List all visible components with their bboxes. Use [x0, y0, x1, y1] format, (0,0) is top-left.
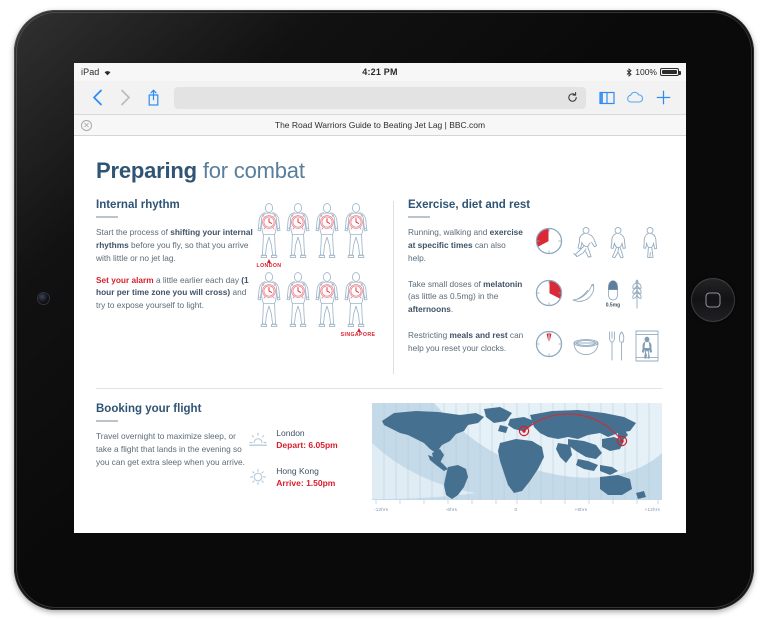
- text-fragment: afternoons: [408, 304, 451, 314]
- singapore-label: SINGAPORE: [335, 332, 381, 338]
- text-fragment: Take small doses of: [408, 279, 483, 289]
- cloud-icon: [626, 91, 644, 104]
- page-title-bold: Preparing: [96, 158, 197, 183]
- tab-bar: ✕ The Road Warriors Guide to Beating Jet…: [74, 115, 686, 136]
- exercise-row: Running, walking and exercise at specifi…: [408, 226, 662, 265]
- browser-toolbar: [74, 81, 686, 115]
- booking-flight-section: Booking your flight Travel overnight to …: [96, 403, 662, 512]
- tz-label: -6hrs: [446, 507, 457, 512]
- wheat-icon: [628, 278, 646, 310]
- flight-depart-label: Depart:: [276, 440, 306, 450]
- text-fragment: Running, walking and: [408, 227, 490, 237]
- text-fragment: Set your alarm: [96, 275, 154, 285]
- content-columns: Internal rhythm Start the process of shi…: [96, 199, 662, 376]
- wheat-icon: [628, 278, 646, 310]
- bluetooth-icon: [626, 68, 632, 77]
- standing-figure-icon: [638, 226, 662, 260]
- flight-time-label: Depart: 6.05pm: [276, 439, 337, 451]
- world-timezone-map: [372, 403, 662, 505]
- text-fragment: melatonin: [483, 279, 522, 289]
- pill-icon: 0.5mg: [605, 279, 621, 309]
- reload-button[interactable]: [567, 92, 578, 103]
- chevron-left-icon: [92, 89, 103, 106]
- status-bar-right: 100%: [626, 67, 679, 77]
- exercise-row-text: Running, walking and exercise at specifi…: [408, 226, 526, 265]
- bowl-icon: [572, 335, 600, 357]
- text-fragment: Start the process of: [96, 227, 170, 237]
- flight-time-label: Arrive: 1.50pm: [276, 477, 335, 489]
- figure-row-singapore: [256, 272, 376, 328]
- internal-rhythm-paragraph-2: Set your alarm a little earlier each day…: [96, 274, 256, 313]
- bed-icon: [634, 329, 660, 363]
- human-figure-icon: [285, 272, 311, 328]
- flight-depart-time: 6.05pm: [308, 440, 337, 450]
- human-figure-icon: [343, 203, 369, 259]
- alarm-clock-icon: [292, 284, 305, 299]
- text-fragment: .: [451, 304, 453, 314]
- section-rule: [96, 216, 118, 218]
- booking-heading: Booking your flight: [96, 403, 248, 415]
- internal-rhythm-heading: Internal rhythm: [96, 199, 256, 211]
- alarm-clock-icon: [263, 284, 276, 299]
- banana-icon: [572, 283, 598, 305]
- status-bar-time: 4:21 PM: [74, 67, 686, 77]
- clock-dial: [534, 278, 564, 308]
- page-title-light: for combat: [197, 158, 305, 183]
- tz-label: +12hrs: [645, 507, 660, 512]
- cutlery-icon: [607, 330, 627, 362]
- reload-icon: [567, 92, 578, 103]
- exercise-row: Restricting meals and rest can help you …: [408, 329, 662, 363]
- exercise-row: Take small doses of melatonin (as little…: [408, 278, 662, 317]
- human-figure-icon: [343, 272, 369, 328]
- clock-dial: [534, 226, 564, 256]
- ipad-screen: iPad 4:21 PM 100%: [74, 63, 686, 533]
- clock-dial-icon: [534, 278, 564, 308]
- figure-row-london: [256, 203, 376, 259]
- pill-icon: 0.5mg: [605, 279, 621, 309]
- exercise-diet-rest-section: Exercise, diet and rest Running, walking…: [408, 199, 662, 376]
- ipad-device-frame: iPad 4:21 PM 100%: [14, 10, 754, 610]
- flight-city-label: Hong Kong: [276, 465, 335, 477]
- alarm-clock-icon: [350, 284, 363, 299]
- forward-button[interactable]: [111, 84, 139, 112]
- banana-icon: [572, 283, 598, 305]
- icloud-tabs-button[interactable]: [621, 84, 649, 112]
- clock-dial-icon: [534, 329, 564, 359]
- human-figure-icon: [256, 203, 282, 259]
- human-figure-icon: [314, 203, 340, 259]
- exercise-row-text: Take small doses of melatonin (as little…: [408, 278, 526, 317]
- flight-arrive-label: Arrive:: [276, 478, 303, 488]
- timezone-axis-labels: -12hrs -6hrs 0 +6hrs +12hrs: [372, 507, 662, 512]
- clock-dial-icon: [534, 226, 564, 256]
- sunset-icon: [248, 430, 268, 448]
- tab-title[interactable]: The Road Warriors Guide to Beating Jet L…: [74, 120, 686, 130]
- alarm-clock-icon: [350, 215, 363, 230]
- walking-figure-icon: [605, 226, 631, 260]
- share-button[interactable]: [139, 84, 167, 112]
- alarm-figures-illustration: LONDON: [256, 199, 376, 376]
- web-page-content: Preparing for combat Internal rhythm Sta…: [74, 136, 686, 533]
- text-fragment: meals and rest: [450, 330, 508, 340]
- section-rule: [408, 216, 430, 218]
- exercise-row-text: Restricting meals and rest can help you …: [408, 329, 526, 355]
- alarm-clock-icon: [263, 215, 276, 230]
- plus-icon: [656, 90, 671, 105]
- bowl-icon: [572, 335, 600, 357]
- human-figure-icon: [256, 272, 282, 328]
- alarm-clock-icon: [292, 215, 305, 230]
- battery-icon: [660, 68, 679, 76]
- flight-row-london: London Depart: 6.05pm: [248, 427, 372, 452]
- text-fragment: Restricting: [408, 330, 450, 340]
- book-icon: [599, 91, 615, 105]
- front-camera-icon: [38, 293, 49, 304]
- world-map-illustration: -12hrs -6hrs 0 +6hrs +12hrs: [372, 403, 662, 512]
- battery-percent-label: 100%: [635, 67, 657, 77]
- cutlery-icon: [607, 330, 627, 362]
- human-figure-icon: [314, 272, 340, 328]
- clock-dial: [534, 329, 564, 359]
- tz-label: +6hrs: [575, 507, 588, 512]
- address-bar[interactable]: [174, 87, 586, 109]
- human-figure-icon: [285, 203, 311, 259]
- chevron-right-icon: [120, 89, 131, 106]
- flight-row-hongkong: Hong Kong Arrive: 1.50pm: [248, 465, 372, 490]
- back-button[interactable]: [83, 84, 111, 112]
- exercise-row-icons: [572, 226, 662, 260]
- tz-label: -12hrs: [374, 507, 388, 512]
- home-button[interactable]: [691, 278, 735, 322]
- running-figure-icon: [572, 226, 598, 260]
- exercise-row-icons: 0.5mg: [572, 278, 662, 310]
- column-divider: [393, 201, 394, 374]
- page-title: Preparing for combat: [96, 158, 662, 184]
- tz-label: 0: [514, 507, 517, 512]
- exercise-row-icons: [572, 329, 662, 363]
- section-rule: [96, 420, 118, 422]
- london-label: LONDON: [250, 263, 288, 269]
- exercise-rows: Running, walking and exercise at specifi…: [408, 226, 662, 363]
- booking-paragraph: Travel overnight to maximize sleep, or t…: [96, 430, 246, 469]
- flight-times-list: London Depart: 6.05pm: [248, 403, 372, 512]
- bed-icon: [634, 329, 660, 363]
- status-bar: iPad 4:21 PM 100%: [74, 63, 686, 81]
- bookmarks-button[interactable]: [593, 84, 621, 112]
- pill-dose-label: 0.5mg: [606, 302, 620, 308]
- internal-rhythm-section: Internal rhythm Start the process of shi…: [96, 199, 393, 376]
- alarm-clock-icon: [321, 284, 334, 299]
- internal-rhythm-paragraph-1: Start the process of shifting your inter…: [96, 226, 256, 265]
- flight-arrive-time: 1.50pm: [306, 478, 335, 488]
- share-icon: [147, 89, 160, 106]
- flight-city-label: London: [276, 427, 337, 439]
- walking-figure-icon: [605, 226, 631, 260]
- alarm-clock-icon: [321, 215, 334, 230]
- home-button-square-icon: [706, 293, 721, 308]
- running-figure-icon: [572, 226, 598, 260]
- new-tab-button[interactable]: [649, 84, 677, 112]
- standing-figure-icon: [638, 226, 662, 260]
- text-fragment: a little earlier each day: [154, 275, 242, 285]
- text-fragment: (as little as 0.5mg) in the: [408, 291, 498, 301]
- horizontal-divider: [96, 388, 662, 389]
- sun-icon: [248, 468, 268, 486]
- exercise-heading: Exercise, diet and rest: [408, 199, 662, 211]
